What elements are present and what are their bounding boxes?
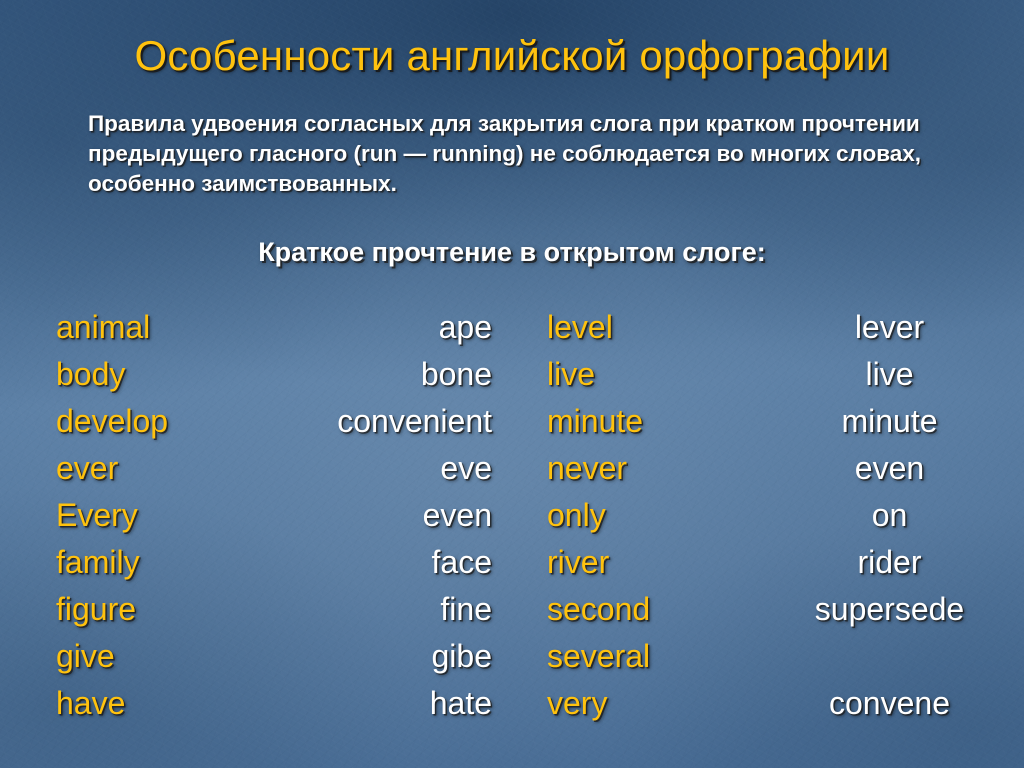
word-key: very xyxy=(547,680,762,727)
word-key: Every xyxy=(56,492,246,539)
page-title: Особенности английской орфографии xyxy=(0,31,1024,81)
word-key: develop xyxy=(56,398,246,445)
word-key: river xyxy=(547,539,762,586)
word-value: bone xyxy=(246,351,492,398)
word-key: animal xyxy=(56,304,246,351)
word-key: family xyxy=(56,539,246,586)
word-key: level xyxy=(547,304,762,351)
word-value: minute xyxy=(762,398,1017,445)
word-list-left: animalapebodybonedevelopconvenienteverev… xyxy=(56,304,492,727)
word-key: ever xyxy=(56,445,246,492)
word-key: have xyxy=(56,680,246,727)
word-value: even xyxy=(762,445,1017,492)
word-key: live xyxy=(547,351,762,398)
word-value xyxy=(762,633,1017,680)
word-value: lever xyxy=(762,304,1017,351)
word-value: convene xyxy=(762,680,1017,727)
word-value: supersede xyxy=(762,586,1017,633)
word-value: even xyxy=(246,492,492,539)
word-key: figure xyxy=(56,586,246,633)
word-key: minute xyxy=(547,398,762,445)
word-key: never xyxy=(547,445,762,492)
word-value: rider xyxy=(762,539,1017,586)
word-list-right: levelleverliveliveminuteminutenevereveno… xyxy=(547,304,1017,727)
word-value: face xyxy=(246,539,492,586)
word-value: hate xyxy=(246,680,492,727)
word-value: fine xyxy=(246,586,492,633)
section-subheading: Краткое прочтение в открытом слоге: xyxy=(0,235,1024,269)
intro-paragraph: Правила удвоения согласных для закрытия … xyxy=(88,109,958,199)
word-key: second xyxy=(547,586,762,633)
word-value: ape xyxy=(246,304,492,351)
word-value: convenient xyxy=(246,398,492,445)
slide-canvas: Особенности английской орфографии Правил… xyxy=(0,0,1024,768)
word-key: several xyxy=(547,633,762,680)
word-value: gibe xyxy=(246,633,492,680)
word-value: live xyxy=(762,351,1017,398)
word-key: give xyxy=(56,633,246,680)
word-value: on xyxy=(762,492,1017,539)
word-key: only xyxy=(547,492,762,539)
word-value: eve xyxy=(246,445,492,492)
word-key: body xyxy=(56,351,246,398)
